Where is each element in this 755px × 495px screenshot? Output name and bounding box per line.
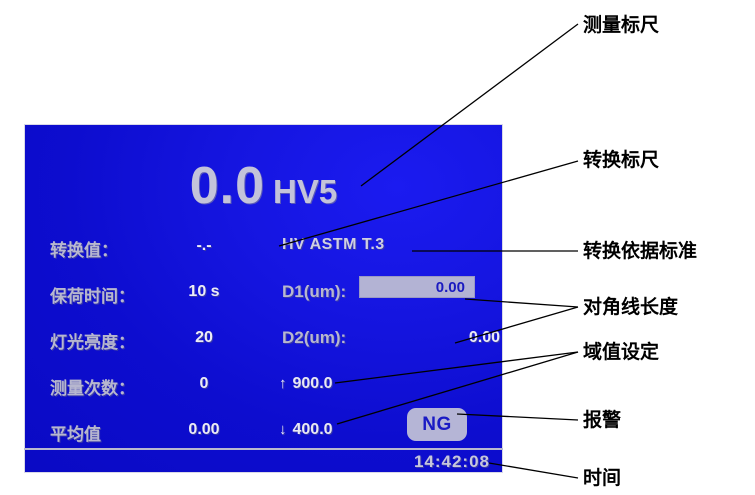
status-badge-label: NG <box>422 414 452 436</box>
value-lamp-brightness[interactable]: 20 <box>174 329 234 347</box>
primary-reading-value: 0.0 <box>190 157 265 215</box>
callout-convert-standard: 转换依据标准 <box>583 236 697 263</box>
label-d2: D2(um): <box>282 328 346 348</box>
row-dwell-d1: 保荷时间： 10 s D1(um): 0.00 <box>24 278 503 324</box>
upper-limit-value: 900.0 <box>293 375 333 392</box>
conversion-scale-standard[interactable]: HV ASTM T.3 <box>282 236 385 254</box>
label-dwell-time: 保荷时间： <box>50 282 135 307</box>
value-conversion-value[interactable]: -.- <box>174 237 234 255</box>
value-d2[interactable]: 0.00 <box>354 329 500 347</box>
callout-diagonal-length: 对角线长度 <box>583 292 678 319</box>
label-conversion-value: 转换值： <box>50 236 118 261</box>
upper-limit[interactable]: ↑900.0 <box>279 375 333 393</box>
callout-convert-scale: 转换标尺 <box>583 145 659 172</box>
row-conversion: 转换值： -.- HV ASTM T.3 <box>24 232 503 278</box>
callout-alarm: 报警 <box>583 405 621 432</box>
screenshot-root: 0.0HV5 转换值： -.- HV ASTM T.3 保荷时间： 10 s D… <box>0 0 755 495</box>
label-average: 平均值 <box>50 420 101 445</box>
lcd-status-bar: 14:42:08 <box>24 450 503 473</box>
arrow-up-icon: ↑ <box>279 375 287 392</box>
callout-threshold-setting: 域值设定 <box>583 337 659 364</box>
primary-reading: 0.0HV5 <box>24 156 503 216</box>
label-d1: D1(um): <box>282 282 346 302</box>
lower-limit-value: 400.0 <box>293 421 333 438</box>
row-brightness-d2: 灯光亮度： 20 D2(um): 0.00 <box>24 324 503 370</box>
status-badge-ng[interactable]: NG <box>407 408 467 441</box>
label-measure-count: 测量次数： <box>50 374 135 399</box>
label-lamp-brightness: 灯光亮度： <box>50 328 135 353</box>
value-dwell-time[interactable]: 10 s <box>174 283 234 301</box>
callout-time: 时间 <box>583 463 621 490</box>
lcd-main-area: 0.0HV5 转换值： -.- HV ASTM T.3 保荷时间： 10 s D… <box>24 124 503 448</box>
arrow-down-icon: ↓ <box>279 421 287 438</box>
clock-display: 14:42:08 <box>414 452 490 472</box>
value-measure-count[interactable]: 0 <box>174 375 234 393</box>
lower-limit[interactable]: ↓400.0 <box>279 421 333 439</box>
value-d1: 0.00 <box>436 279 465 296</box>
field-d1-value[interactable]: 0.00 <box>359 276 475 298</box>
instrument-lcd-panel: 0.0HV5 转换值： -.- HV ASTM T.3 保荷时间： 10 s D… <box>24 124 503 473</box>
primary-reading-unit: HV5 <box>273 173 337 210</box>
value-average[interactable]: 0.00 <box>174 421 234 439</box>
parameter-grid: 转换值： -.- HV ASTM T.3 保荷时间： 10 s D1(um): … <box>24 232 503 462</box>
callout-measure-scale: 测量标尺 <box>583 10 659 37</box>
